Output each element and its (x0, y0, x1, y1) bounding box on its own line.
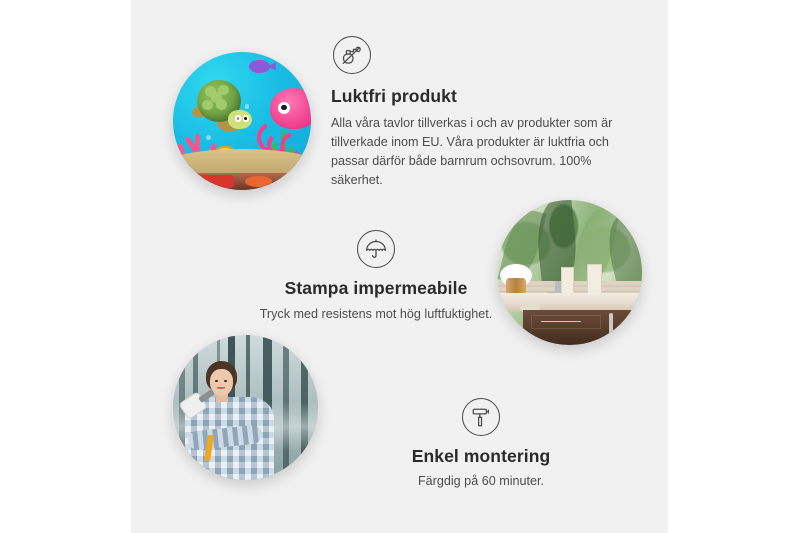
feature-body: Tryck med resistens mot hög luftfuktighe… (211, 305, 541, 324)
feature-body: Alla våra tavlor tillverkas i och av pro… (331, 114, 631, 191)
turtle-character (192, 80, 253, 138)
feature-body: Färgdig på 60 minuter. (336, 472, 626, 491)
purple-fish (249, 60, 270, 72)
product-benefits-page: Luktfri produkt Alla våra tavlor tillver… (0, 0, 800, 533)
feature-title: Enkel montering (336, 446, 626, 467)
woman-painter (185, 361, 275, 480)
underwater-kids-illustration-image (173, 52, 311, 190)
feature-title: Luktfri produkt (331, 86, 631, 107)
feature-title: Stampa impermeabile (211, 278, 541, 299)
no-fragrance-icon (333, 36, 371, 74)
feature-odourless: Luktfri produkt Alla våra tavlor tillver… (331, 36, 631, 191)
umbrella-icon (357, 230, 395, 268)
feature-mounting: Enkel montering Färgdig på 60 minuter. (336, 398, 626, 491)
feature-waterproof: Stampa impermeabile Tryck med resistens … (211, 230, 541, 324)
octopus-character (256, 88, 311, 154)
image-bottom-strip (173, 173, 311, 190)
content-panel: Luktfri produkt Alla våra tavlor tillver… (131, 0, 668, 533)
paint-roller-icon (462, 398, 500, 436)
woman-painter-forest-image (173, 335, 318, 480)
